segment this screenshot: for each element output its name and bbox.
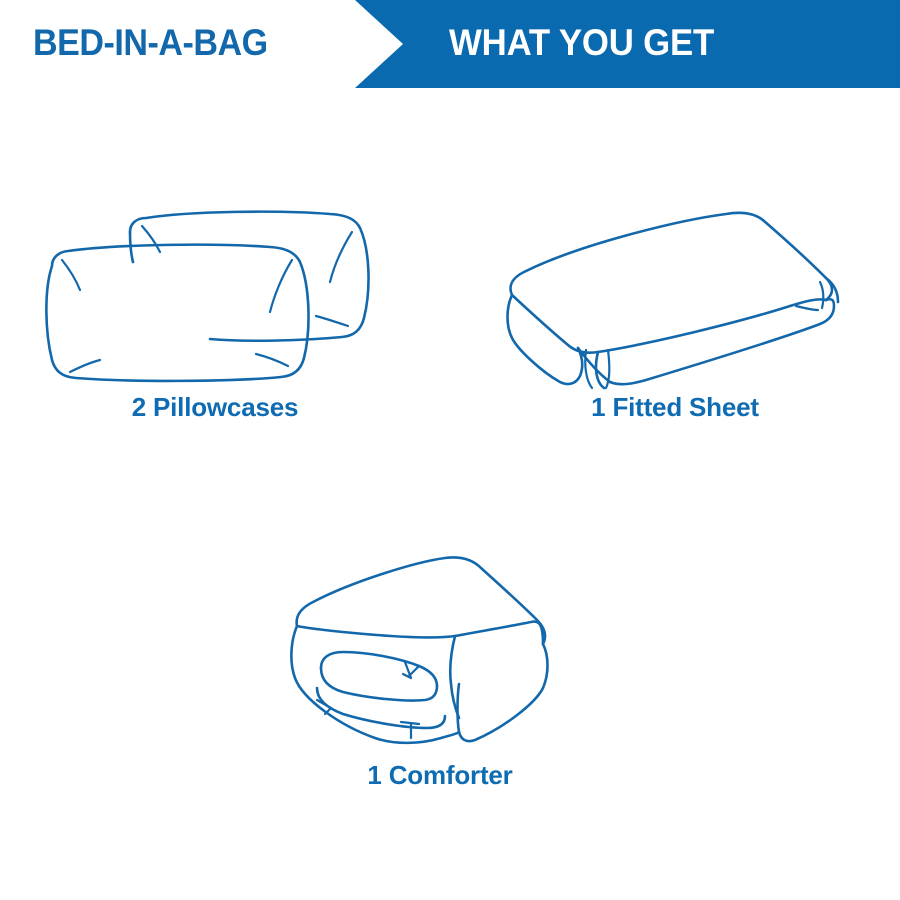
item-caption-comforter: 1 Comforter — [255, 760, 625, 791]
folded-comforter-icon — [255, 548, 625, 758]
fitted-sheet-icon — [490, 190, 860, 390]
infographic-page: BED-IN-A-BAG WHAT YOU GET 2 Pillowcases — [0, 0, 900, 900]
item-caption-pillowcases: 2 Pillowcases — [30, 392, 400, 423]
two-pillowcases-icon — [30, 190, 400, 390]
item-pillowcases: 2 Pillowcases — [30, 190, 400, 440]
item-caption-fitted-sheet: 1 Fitted Sheet — [490, 392, 860, 423]
banner-left-title: BED-IN-A-BAG — [33, 22, 268, 64]
header-banner: BED-IN-A-BAG WHAT YOU GET — [0, 0, 900, 88]
item-comforter: 1 Comforter — [255, 548, 625, 798]
item-fitted-sheet: 1 Fitted Sheet — [490, 190, 860, 440]
banner-right-title: WHAT YOU GET — [449, 22, 714, 64]
